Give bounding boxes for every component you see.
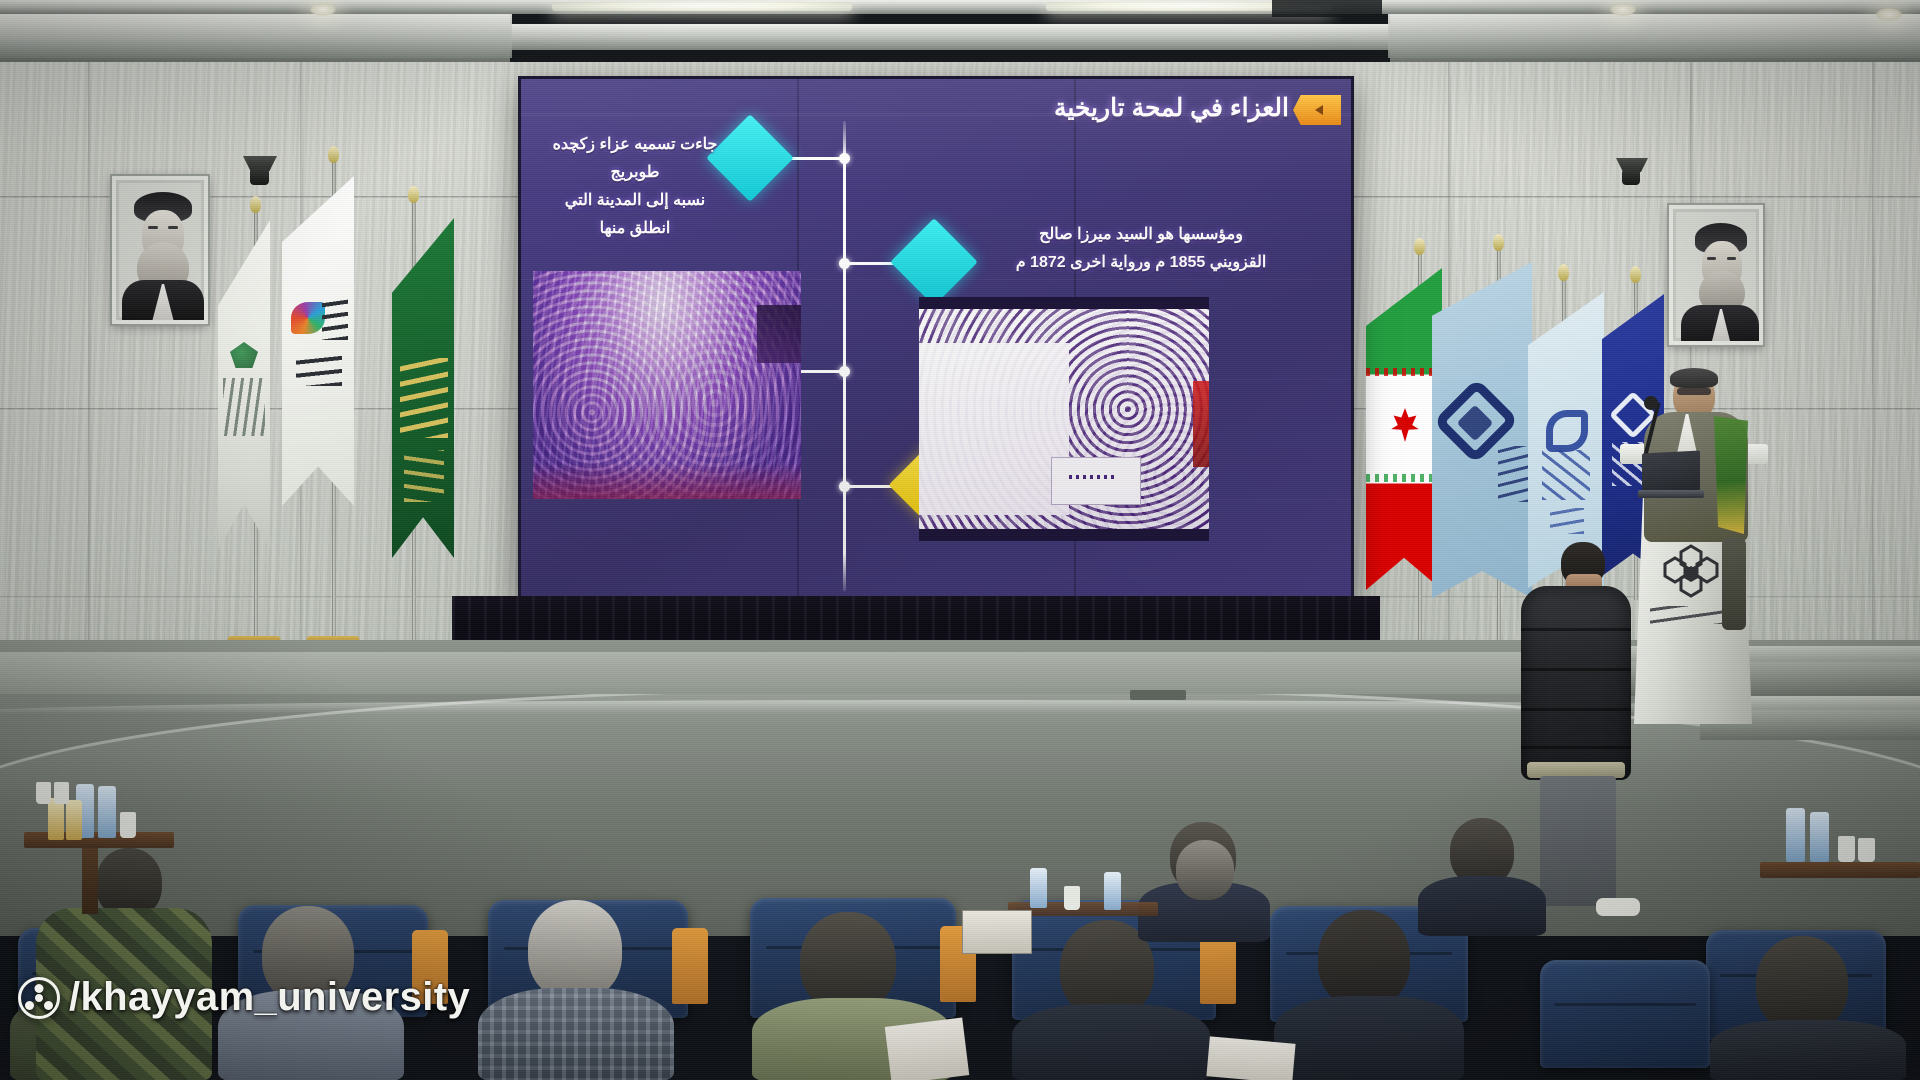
standing-attendee-shoe — [1596, 898, 1640, 916]
slide-block-2-text: ومؤسسها هو السيد ميرزا صالح القزويني 185… — [976, 221, 1306, 277]
handout-paper — [1206, 1036, 1295, 1080]
flag-finial-1 — [250, 196, 261, 213]
slide-block-1-text: جاءت تسميه عزاء زكچده طوبريج نسبه إلى ال… — [549, 131, 721, 243]
film-reel-icon — [18, 977, 60, 1019]
juice-bottle — [48, 798, 64, 840]
side-table-right — [1760, 862, 1920, 878]
flag-finial-iran — [1414, 238, 1425, 255]
portrait-khomeini — [112, 176, 208, 324]
timeline-diamond-cyan-2 — [890, 218, 978, 306]
channel-watermark: /khayyam_university — [18, 975, 470, 1020]
microphone-head — [1644, 396, 1658, 410]
seat-back-right-2 — [1540, 960, 1710, 1068]
paper-cup — [1064, 886, 1080, 910]
flag-finial-azad — [1630, 266, 1641, 283]
slide-photo-historical-crowd — [533, 271, 801, 499]
slide-photo-historical-procession — [919, 297, 1209, 541]
seat-reserved-card — [962, 910, 1032, 954]
paper-cup — [1858, 838, 1875, 862]
water-bottle — [1810, 812, 1829, 862]
water-bottle — [1786, 808, 1805, 862]
scene-root: العزاء في لمحة تاريخية جاءت تسميه عزاء ز… — [0, 0, 1920, 1080]
watermark-handle: /khayyam_university — [69, 975, 470, 1020]
stage-floor-vent — [1130, 690, 1186, 700]
security-camera — [250, 168, 269, 185]
audience-plaid-shirt — [478, 988, 674, 1080]
water-bottle — [1030, 868, 1047, 908]
timeline-spine — [843, 121, 846, 591]
paper-cup — [54, 782, 69, 804]
paper-cup — [120, 812, 136, 838]
laptop-base — [1638, 490, 1704, 498]
slide-title: العزاء في لمحة تاريخية — [1054, 93, 1289, 123]
laptop-screen — [1642, 450, 1700, 493]
seat-arm — [672, 928, 708, 1004]
water-bottle — [98, 786, 116, 838]
flag-finial-2 — [328, 146, 339, 163]
table-leg-left — [82, 848, 98, 914]
speaker-green-sash — [1714, 416, 1748, 534]
speaker-glasses — [1677, 388, 1711, 395]
standing-attendee-jacket — [1521, 586, 1631, 780]
paper-cup — [1838, 836, 1855, 862]
flag-finial-univ1 — [1493, 234, 1504, 251]
water-bottle — [1104, 872, 1121, 910]
flag-university-lightblue — [1432, 262, 1532, 598]
portrait-khamenei — [1669, 205, 1763, 345]
flag-finial-3 — [408, 186, 419, 203]
paper-cup — [36, 782, 51, 804]
speaker-arm — [1722, 538, 1746, 630]
standing-attendee-trousers — [1540, 776, 1616, 906]
security-camera-right — [1622, 169, 1640, 185]
speaker-hair — [1670, 368, 1718, 388]
led-presentation-screen[interactable]: العزاء في لمحة تاريخية جاءت تسميه عزاء ز… — [521, 79, 1351, 602]
podium-emblem-geometric-flower — [1656, 540, 1726, 602]
juice-bottle — [66, 800, 82, 840]
flag-finial-univ2 — [1558, 264, 1569, 281]
handout-paper — [885, 1017, 969, 1080]
slide-title-chevron-icon — [1293, 95, 1341, 125]
